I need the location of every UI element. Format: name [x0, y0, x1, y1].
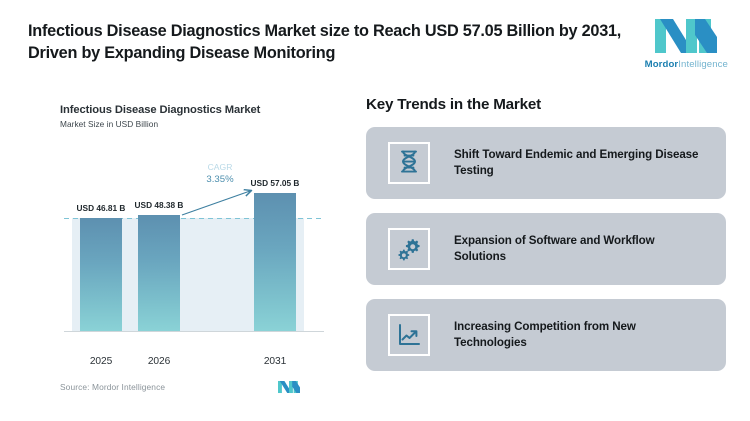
bar-2031 [254, 193, 296, 331]
chart-x-axis: 2025 2026 2031 [60, 356, 328, 376]
chart-source-text: Source: Mordor Intelligence [60, 382, 165, 392]
gears-icon [397, 237, 421, 261]
logo-brand-bold: Mordor [645, 59, 679, 70]
x-tick-2025: 2025 [90, 356, 112, 367]
mordor-logo-wordmark: MordorIntelligence [645, 59, 728, 70]
trend-icon-box [388, 314, 430, 356]
key-trends-heading: Key Trends in the Market [366, 96, 726, 113]
x-tick-2031: 2031 [264, 356, 286, 367]
bar-label-2025: USD 46.81 B [77, 203, 126, 213]
bar-label-2026: USD 48.38 B [135, 200, 184, 210]
trend-card-label: Expansion of Software and Workflow Solut… [454, 233, 704, 266]
chart-source-row: Source: Mordor Intelligence [60, 380, 328, 394]
chart-subtitle: Market Size in USD Billion [60, 119, 328, 129]
cagr-value: 3.35% [206, 174, 234, 185]
bar-2025 [80, 218, 122, 331]
trend-card-label: Increasing Competition from New Technolo… [454, 319, 704, 352]
page-title: Infectious Disease Diagnostics Market si… [28, 21, 628, 64]
bar-2026 [138, 215, 180, 331]
x-tick-2026: 2026 [148, 356, 170, 367]
bar-label-2031: USD 57.05 B [251, 178, 300, 188]
mordor-intelligence-logo: MordorIntelligence [645, 17, 728, 70]
cagr-label: CAGR [208, 162, 233, 172]
chart-plot-area: USD 46.81 B USD 48.38 B USD 57.05 B CAGR… [60, 160, 328, 356]
chart-title: Infectious Disease Diagnostics Market [60, 104, 328, 116]
market-size-chart: Infectious Disease Diagnostics Market Ma… [60, 104, 328, 404]
trend-card-endemic-testing[interactable]: Shift Toward Endemic and Emerging Diseas… [366, 127, 726, 199]
trend-card-software-workflow[interactable]: Expansion of Software and Workflow Solut… [366, 213, 726, 285]
cagr-arrow [182, 191, 250, 215]
mordor-logo-mark-small [278, 380, 300, 394]
page-header: Infectious Disease Diagnostics Market si… [0, 0, 750, 86]
growth-chart-icon [397, 323, 421, 347]
mordor-logo-mark [655, 17, 717, 55]
dna-helix-icon [398, 150, 420, 176]
trend-icon-box [388, 228, 430, 270]
trend-card-new-technologies[interactable]: Increasing Competition from New Technolo… [366, 299, 726, 371]
logo-brand-light: Intelligence [678, 59, 728, 70]
key-trends-panel: Key Trends in the Market Shift Toward En… [366, 96, 726, 385]
trend-card-label: Shift Toward Endemic and Emerging Diseas… [454, 147, 704, 180]
trend-icon-box [388, 142, 430, 184]
